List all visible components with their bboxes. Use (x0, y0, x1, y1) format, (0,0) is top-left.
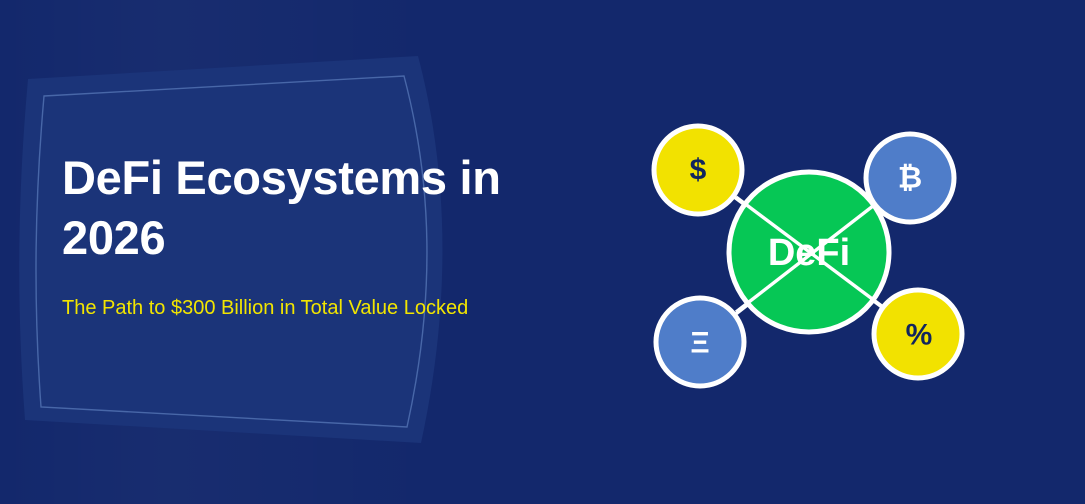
ethereum-xi-icon: Ξ (690, 327, 709, 360)
hub-label: DeFi (768, 232, 850, 274)
page-title: DeFi Ecosystems in 2026 (62, 148, 532, 268)
text-column: DeFi Ecosystems in 2026 The Path to $300… (62, 148, 532, 323)
percent-icon: % (906, 319, 933, 352)
page-subtitle: The Path to $300 Billion in Total Value … (62, 294, 482, 323)
bitcoin-icon: ₿ (898, 162, 922, 195)
node-yield[interactable]: % (874, 290, 962, 378)
diagram-container: DeFi $ ₿ Ξ % (628, 106, 1000, 398)
node-ethereum[interactable]: Ξ (656, 298, 744, 386)
slide-canvas: DeFi Ecosystems in 2026 The Path to $300… (0, 0, 1085, 504)
dollar-sign-icon: $ (690, 154, 707, 187)
node-bitcoin[interactable]: ₿ (866, 134, 954, 222)
node-dollar[interactable]: $ (654, 126, 742, 214)
